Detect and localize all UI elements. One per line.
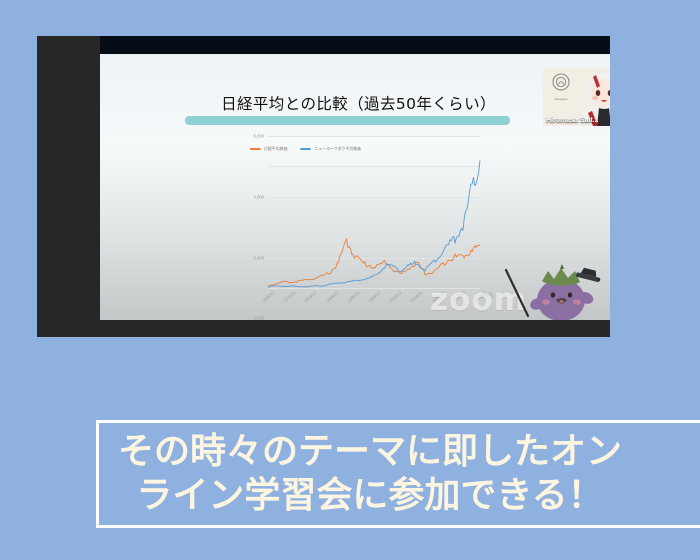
chart-x-tick-label: 1979/12 — [304, 290, 318, 303]
chart-y-tick-label: 5,000 — [254, 134, 264, 139]
chart-x-tick-label: 1994/12 — [367, 290, 381, 303]
presentation-slide: 日経平均との比較（過去50年くらい） 01,0002,0003,0004,000… — [100, 54, 610, 320]
caption-line-2: ライン学習会に参加できる！ — [96, 474, 644, 518]
legend-entry-nikkei: 日経平均株価 — [250, 146, 287, 152]
chart-plot-area: 01,0002,0003,0004,0005,000 — [268, 136, 480, 288]
chart-x-tick-label: 1999/12 — [388, 290, 402, 303]
chart-line-nikkei — [268, 239, 480, 286]
legend-label-dow: ニューヨークダウ平均株価 — [314, 146, 361, 152]
chart-x-tick-label: 1974/12 — [282, 290, 296, 303]
honeypot-logo-badge: Honeypot — [548, 73, 574, 98]
eggplant-graduate-mascot-icon — [498, 264, 608, 320]
shared-screen-area: 日経平均との比較（過去50年くらい） 01,0002,0003,0004,000… — [100, 54, 610, 320]
chart-y-tick-label: 3,000 — [254, 255, 264, 260]
chart-legend: 日経平均株価 ニューヨークダウ平均株価 — [250, 146, 361, 152]
caption-text: その時々のテーマに即したオン ライン学習会に参加できる！ — [96, 430, 644, 518]
legend-label-nikkei: 日経平均株価 — [264, 146, 287, 152]
participant-video-tile[interactable]: Honeypot Hiromasa Sait... — [543, 68, 610, 126]
chart-x-tick-label: 1984/12 — [325, 290, 339, 303]
chart-x-tick-label: 2004/12 — [410, 290, 424, 303]
caption-line-1: その時々のテーマに即したオン — [96, 430, 644, 474]
chart-x-tick-label: 1989/12 — [346, 290, 360, 303]
legend-swatch-nikkei — [250, 148, 261, 150]
zoom-meeting-window: 日経平均との比較（過去50年くらい） 01,0002,0003,0004,000… — [37, 36, 610, 337]
title-underline-bar — [185, 116, 510, 125]
slide-title: 日経平均との比較（過去50年くらい） — [100, 92, 610, 114]
zoom-window-topbar — [100, 36, 610, 54]
chart-y-tick-label: 2,000 — [254, 316, 264, 320]
honeypot-badge-label: Honeypot — [548, 97, 574, 101]
legend-entry-dow: ニューヨークダウ平均株価 — [300, 146, 361, 152]
participant-name-label: Hiromasa Sait... — [543, 116, 602, 126]
chart-x-tick-label: 1969/12 — [261, 290, 275, 303]
legend-swatch-dow — [300, 148, 311, 150]
chart-y-tick-label: 4,000 — [254, 194, 264, 199]
chart-line-dow — [268, 160, 480, 287]
honeypot-circle-icon — [552, 73, 570, 91]
chart-series-svg — [268, 136, 480, 288]
